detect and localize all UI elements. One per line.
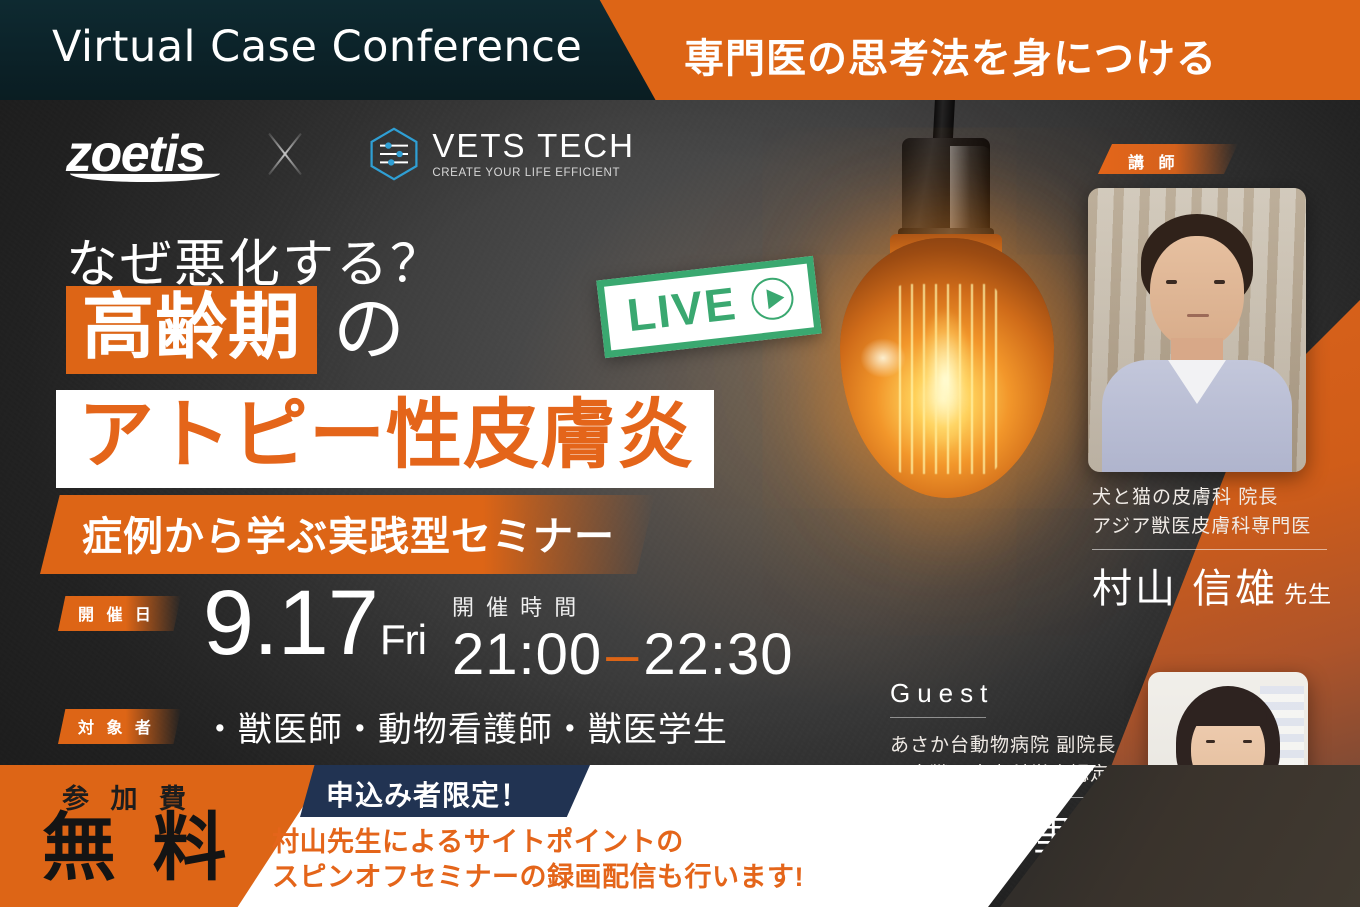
- bulb-filament-glow: [910, 294, 980, 466]
- title-connector: の: [333, 294, 405, 374]
- lecturer-badge-label: 講 師: [1128, 149, 1179, 173]
- bulb-socket: [902, 138, 990, 236]
- title-line-two: 高齢期 の: [66, 286, 405, 374]
- guest-eye-left: [1206, 740, 1215, 743]
- partner-name: VETS TECH: [432, 129, 635, 162]
- time-end: 22:30: [643, 622, 793, 687]
- time-value: 21:00–22:30: [452, 626, 794, 684]
- lecturer-name: 村山 信雄: [1092, 567, 1278, 611]
- audience-tag: 対 象 者: [58, 709, 181, 744]
- time-block: 開 催 時 間 21:00–22:30: [452, 584, 794, 684]
- lecturer-mouth: [1187, 314, 1209, 317]
- cross-icon: [258, 128, 310, 180]
- vets-tech-logo: VETS TECH CREATE YOUR LIFE EFFICIENT: [366, 126, 635, 182]
- time-dash: –: [602, 622, 643, 687]
- hexagon-icon: [366, 126, 422, 182]
- promo-line1: 村山先生によるサイトポイントの: [272, 825, 804, 860]
- title-ribbon: 症例から学ぶ実践型セミナー: [40, 495, 655, 574]
- guest-badge-label: Guest: [890, 678, 1150, 709]
- title-highlight: 高齢期: [66, 286, 317, 374]
- date-tag-wrap: 開 催 日: [58, 584, 181, 631]
- guest-bangs: [1189, 700, 1267, 726]
- audience-value: ・獣医師・動物看護師・獣医学生: [203, 702, 728, 751]
- date-day-of-week: Fri: [380, 616, 426, 663]
- partner-tagline: CREATE YOUR LIFE EFFICIENT: [432, 167, 635, 179]
- live-label: LIVE: [625, 280, 740, 338]
- lecturer-eye-left: [1166, 280, 1177, 284]
- lecturer-face: [1150, 236, 1244, 348]
- guest-label-divider: [890, 717, 986, 718]
- date-time-row: 開 催 日 9.17Fri 開 催 時 間 21:00–22:30: [58, 584, 794, 684]
- bulb-highlight: [860, 338, 906, 378]
- lecturer-badge: 講 師: [1098, 144, 1238, 174]
- lecturer-honorific: 先生: [1284, 581, 1332, 607]
- zoetis-logo: zoetis: [66, 128, 204, 180]
- ribbon-text: 症例から学ぶ実践型セミナー: [82, 515, 615, 559]
- promo-line2: スピンオフセミナーの録画配信も行います!: [272, 860, 804, 895]
- guest-role-line1: あさか台動物病院 副院長: [890, 732, 1150, 761]
- lecturer-role-line2: アジア獣医皮膚科専門医: [1092, 513, 1352, 542]
- fee-value: 無 料: [42, 811, 235, 885]
- logo-row: zoetis VETS TECH CREATE YOUR LIFE EFFICI…: [66, 126, 635, 182]
- lecturer-divider: [1092, 549, 1327, 550]
- promo-badge-label: 申込み者限定！: [326, 774, 529, 814]
- lecturer-info: 犬と猫の皮膚科 院長 アジア獣医皮膚科専門医 村山 信雄先生: [1092, 484, 1352, 614]
- date-value-wrap: 9.17Fri: [203, 584, 426, 663]
- vets-tech-text: VETS TECH CREATE YOUR LIFE EFFICIENT: [432, 129, 635, 179]
- light-bulb-image: [806, 88, 1106, 688]
- header-subtitle: 専門医の思考法を身につける: [684, 26, 1217, 84]
- time-start: 21:00: [452, 622, 602, 687]
- guest-eye-right: [1243, 740, 1252, 743]
- lecturer-name-wrap: 村山 信雄先生: [1092, 556, 1352, 614]
- lecturer-eye-right: [1214, 280, 1225, 284]
- time-label: 開 催 時 間: [452, 590, 794, 622]
- lecturer-role-line1: 犬と猫の皮膚科 院長: [1092, 484, 1352, 513]
- play-circle-icon: [748, 274, 797, 323]
- seminar-poster: Virtual Case Conference 専門医の思考法を身につける zo…: [0, 0, 1360, 907]
- date-tag: 開 催 日: [58, 596, 181, 631]
- lecturer-photo: [1088, 188, 1306, 472]
- promo-badge: 申込み者限定！: [300, 765, 590, 817]
- audience-row: 対 象 者 ・獣医師・動物看護師・獣医学生: [58, 702, 728, 751]
- header-title: Virtual Case Conference: [52, 22, 582, 72]
- title-main: アトピー性皮膚炎: [56, 390, 714, 488]
- date-value: 9.17: [203, 572, 378, 674]
- bottom-strip: 参 加 費 無 料 申込み者限定！ 村山先生によるサイトポイントの スピンオフセ…: [0, 765, 1360, 907]
- promo-text: 村山先生によるサイトポイントの スピンオフセミナーの録画配信も行います!: [272, 825, 804, 894]
